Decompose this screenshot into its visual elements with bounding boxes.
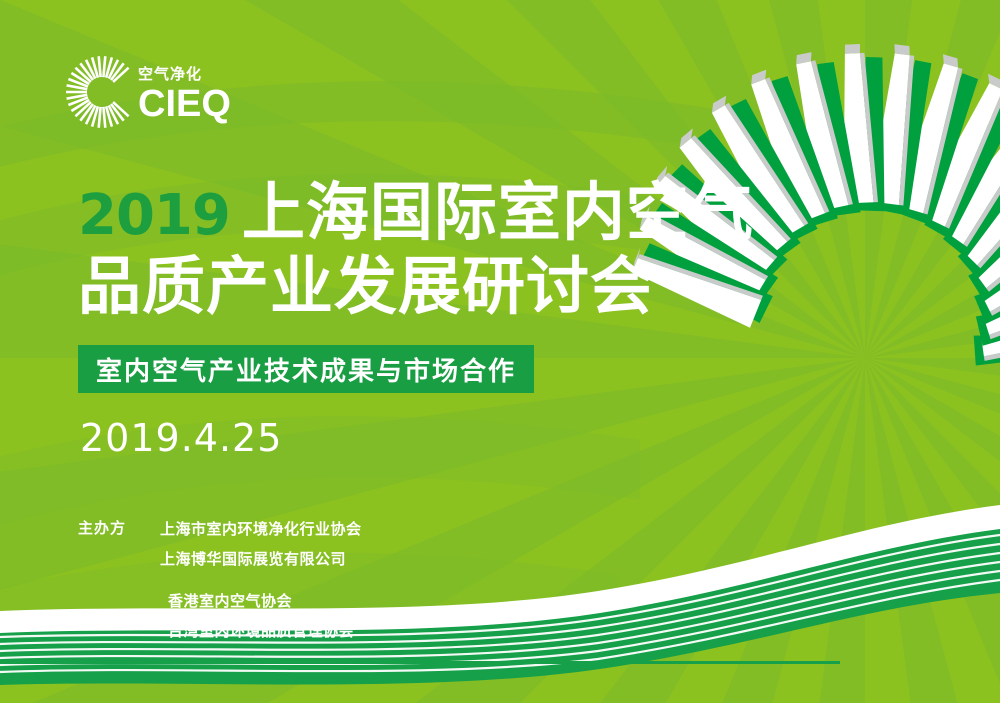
logo-chinese-label: 空气净化	[138, 66, 231, 84]
list-item: 上海市室内环境净化行业协会	[160, 515, 362, 545]
headline-row-1: 2019 上海国际室内空气	[78, 178, 718, 251]
event-date: 2019.4.25	[80, 416, 282, 460]
list-item: 上海博华国际展览有限公司	[160, 545, 362, 575]
bottom-divider	[0, 661, 840, 664]
headline-year: 2019	[78, 181, 230, 251]
poster-canvas: 空气净化 CIEQ 2019 上海国际室内空气 品质产业发展研讨会 室内空气产业…	[0, 0, 1000, 703]
cieq-logo: 空气净化 CIEQ	[62, 52, 262, 138]
list-item: 台湾室内环境品质管理协会	[160, 617, 362, 647]
organizers-secondary-group: 香港室内空气协会 台湾室内环境品质管理协会	[160, 587, 362, 647]
subtitle-banner: 室内空气产业技术成果与市场合作	[78, 345, 534, 393]
headline-line-2: 品质产业发展研讨会	[78, 251, 718, 323]
headline-line-1: 上海国际室内空气	[242, 178, 754, 248]
radial-burst-icon	[62, 52, 142, 132]
logo-text-block: 空气净化 CIEQ	[138, 66, 231, 124]
list-item: 香港室内空气协会	[160, 587, 362, 617]
organizers-primary-group: 上海市室内环境净化行业协会 上海博华国际展览有限公司	[160, 515, 362, 575]
subtitle-text: 室内空气产业技术成果与市场合作	[96, 351, 516, 388]
logo-english-label: CIEQ	[138, 84, 231, 124]
organizers-label: 主办方	[78, 515, 160, 538]
organizers-list: 上海市室内环境净化行业协会 上海博华国际展览有限公司 香港室内空气协会 台湾室内…	[160, 515, 362, 647]
headline-block: 2019 上海国际室内空气 品质产业发展研讨会	[78, 178, 718, 323]
organizers-block: 主办方 上海市室内环境净化行业协会 上海博华国际展览有限公司 香港室内空气协会 …	[78, 515, 362, 647]
